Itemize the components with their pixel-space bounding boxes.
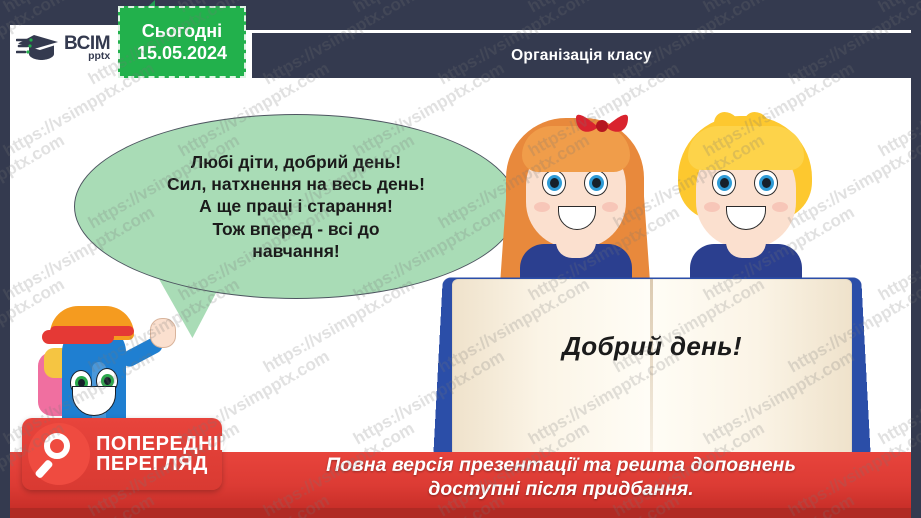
- open-book: Добрий день!: [438, 275, 866, 461]
- brand-logo[interactable]: ВСІМ pptx: [10, 25, 128, 70]
- boy-fringe: [688, 126, 804, 170]
- girl-eye-right: [584, 170, 608, 196]
- speech-line: навчання!: [167, 240, 425, 262]
- watermark-text: https://vsimpptx.com: [525, 0, 683, 17]
- speech-bubble-text: Любі діти, добрий день! Сил, натхнення н…: [133, 151, 459, 263]
- watermark-text: https://vsimpptx.com: [350, 0, 508, 17]
- red-bow-icon: [574, 114, 630, 140]
- watermark-text: https://vsimpptx.com: [875, 0, 921, 17]
- girl-cheek-left: [534, 202, 550, 212]
- banner-line-2: доступні після придбання.: [236, 478, 886, 502]
- date-badge-value: 15.05.2024: [137, 42, 227, 65]
- boy-eye-left: [712, 170, 736, 196]
- date-badge: Сьогодні 15.05.2024: [118, 6, 246, 78]
- presentation-slide: Організація класу: [0, 0, 921, 518]
- mascot-cap-brim: [42, 330, 114, 344]
- speech-bubble: Любі діти, добрий день! Сил, натхнення н…: [74, 114, 518, 299]
- preview-badge-text: ПОПЕРЕДНІЙ ПЕРЕГЛЯД: [96, 434, 234, 475]
- speech-line: А ще праці і старання!: [167, 195, 425, 217]
- preview-line-1: ПОПЕРЕДНІЙ: [96, 434, 234, 454]
- speech-line: Сил, натхнення на весь день!: [167, 173, 425, 195]
- speech-line: Любі діти, добрий день!: [167, 151, 425, 173]
- girl-mouth: [558, 206, 596, 230]
- preview-line-2: ПЕРЕГЛЯД: [96, 454, 234, 474]
- brand-logo-text: ВСІМ pptx: [64, 34, 110, 62]
- date-badge-label: Сьогодні: [142, 20, 222, 43]
- boy-cheek-left: [704, 202, 720, 212]
- boy-mouth: [726, 206, 766, 230]
- banner-line-1: Повна версія презентації та решта доповн…: [236, 454, 886, 478]
- boy-cheek-right: [772, 202, 788, 212]
- speech-line: Тож вперед - всі до: [167, 218, 425, 240]
- graduation-cap-icon: [16, 31, 62, 65]
- bottom-banner-text: Повна версія презентації та решта доповн…: [236, 454, 886, 502]
- watermark-text: https://vsimpptx.com: [700, 0, 858, 17]
- boy-eye-right: [754, 170, 778, 196]
- mascot-hand: [150, 318, 176, 348]
- preview-badge[interactable]: ПОПЕРЕДНІЙ ПЕРЕГЛЯД: [22, 418, 222, 490]
- magnifier-icon: [28, 423, 90, 485]
- bottom-banner-foot: [10, 508, 911, 518]
- girl-eye-left: [542, 170, 566, 196]
- girl-cheek-right: [602, 202, 618, 212]
- book-text: Добрий день!: [438, 331, 866, 362]
- book-spine: [650, 279, 653, 457]
- slide-title-bar: Організація класу: [252, 33, 911, 78]
- page-title: Організація класу: [511, 47, 652, 65]
